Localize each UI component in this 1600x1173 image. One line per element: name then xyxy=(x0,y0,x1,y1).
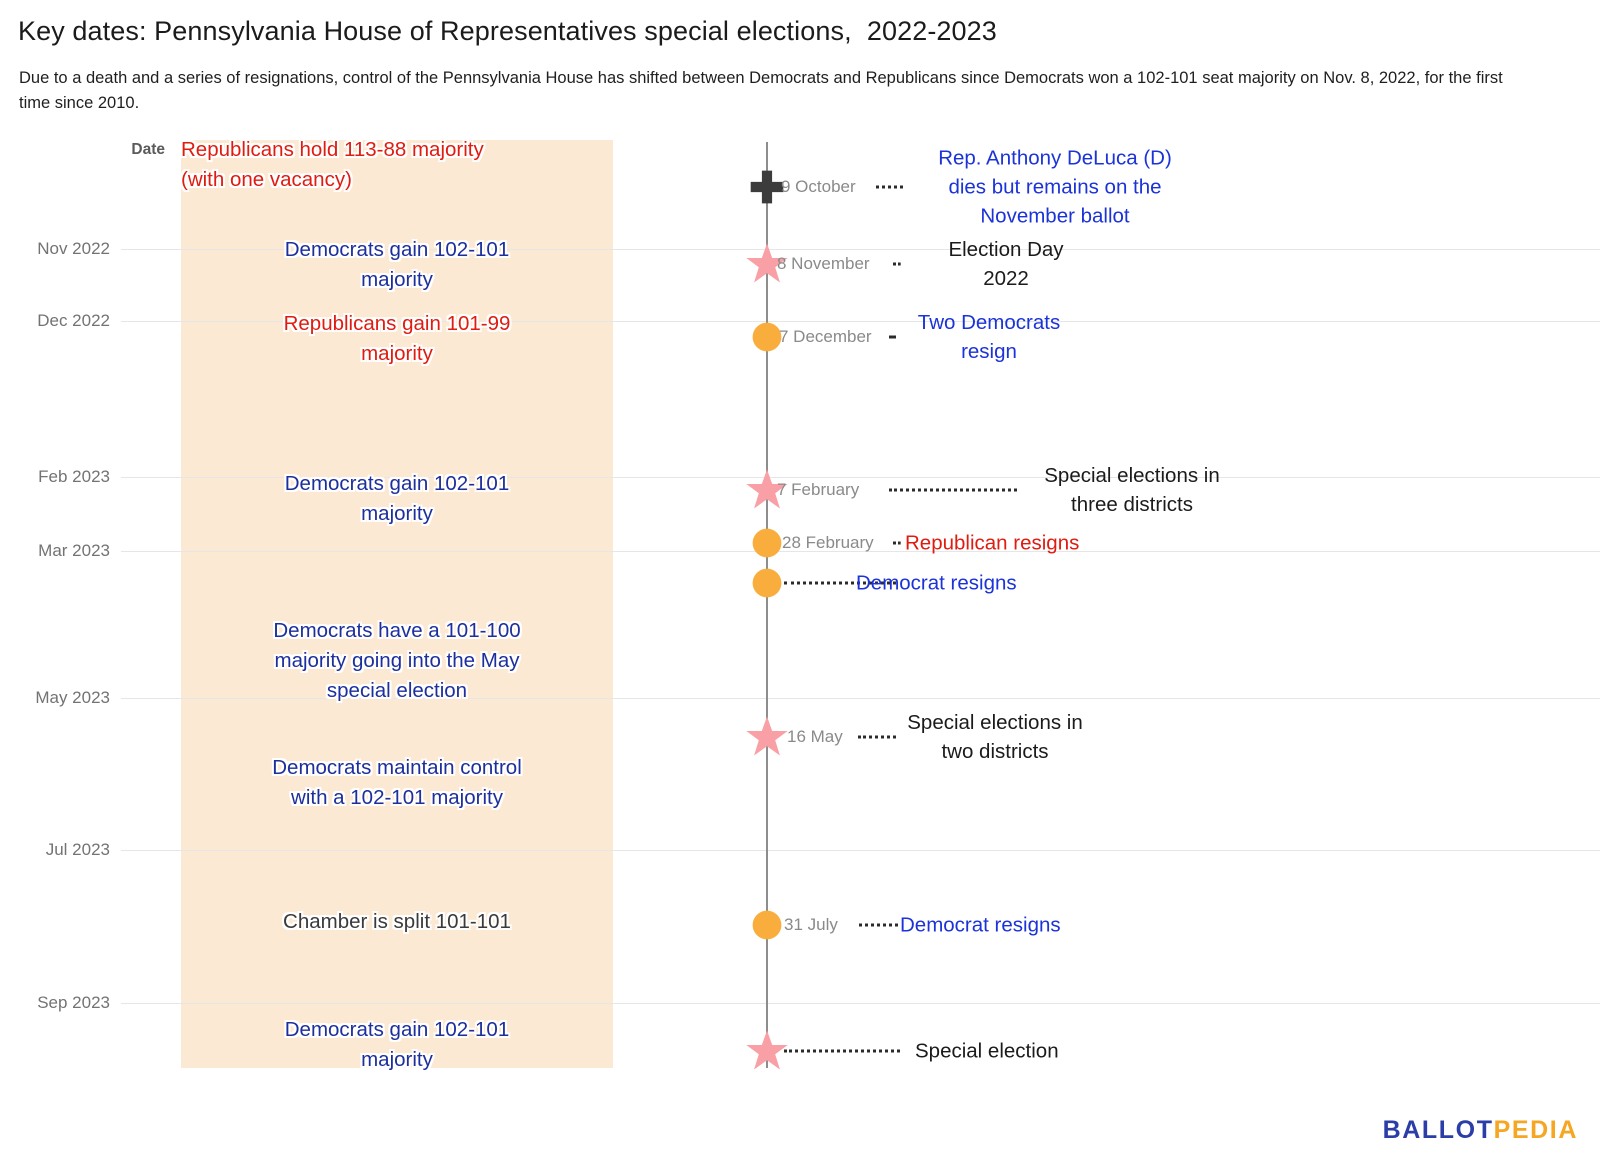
leader-line xyxy=(876,186,903,189)
leader-line xyxy=(784,1050,900,1053)
event-date-label: 28 February xyxy=(782,533,874,553)
status-note: Democrats maintain control with a 102-10… xyxy=(181,753,613,813)
event-annotation: Republican resigns xyxy=(905,529,1105,558)
event-annotation: Democrat resigns xyxy=(900,911,1092,940)
event-date-label: 7 February xyxy=(777,480,859,500)
leader-line xyxy=(893,263,901,266)
event-annotation: Special election xyxy=(915,1037,1105,1066)
page-subtitle: Due to a death and a series of resignati… xyxy=(19,66,1519,116)
ballotpedia-logo: BALLOTPEDIA xyxy=(1383,1116,1578,1145)
event-date-label: 9 October xyxy=(781,177,856,197)
y-axis-tick-label: Mar 2023 xyxy=(0,541,110,561)
circle-marker-icon xyxy=(752,910,782,940)
event-annotation: Election Day 2022 xyxy=(908,235,1104,293)
star-marker-icon xyxy=(745,715,789,759)
date-axis-header: Date xyxy=(0,141,165,159)
cross-marker-icon xyxy=(750,170,784,204)
y-axis-tick-label: May 2023 xyxy=(0,688,110,708)
y-axis-tick-label: Sep 2023 xyxy=(0,993,110,1013)
status-note: Democrats gain 102-101 majority xyxy=(181,235,613,295)
status-note: Democrats gain 102-101 majority xyxy=(181,469,613,529)
y-axis-tick-label: Jul 2023 xyxy=(0,840,110,860)
leader-line xyxy=(889,489,1017,492)
logo-ballot-text: BALLOT xyxy=(1383,1116,1494,1144)
status-note: Chamber is split 101-101 xyxy=(181,907,613,937)
leader-line xyxy=(859,924,898,927)
status-note: Republicans gain 101-99 majority xyxy=(181,309,613,369)
event-date-label: 31 July xyxy=(784,915,838,935)
event-date-label: 8 November xyxy=(777,254,870,274)
gridline xyxy=(121,850,1600,851)
event-annotation: Democrat resigns xyxy=(856,569,1048,598)
y-axis-tick-label: Feb 2023 xyxy=(0,467,110,487)
event-annotation: Special elections in three districts xyxy=(1016,461,1248,519)
status-note: Republicans hold 113-88 majority (with o… xyxy=(181,135,613,195)
event-annotation: Special elections in two districts xyxy=(882,708,1108,766)
event-annotation: Rep. Anthony DeLuca (D) dies but remains… xyxy=(923,144,1187,231)
circle-marker-icon xyxy=(752,322,782,352)
page-title: Key dates: Pennsylvania House of Represe… xyxy=(18,16,997,47)
status-note: Democrats have a 101-100 majority going … xyxy=(181,616,613,706)
timeline-chart: Date Nov 2022Dec 2022Feb 2023Mar 2023May… xyxy=(0,120,1600,1080)
event-date-label: 7 December xyxy=(779,327,872,347)
y-axis-tick-label: Nov 2022 xyxy=(0,239,110,259)
star-marker-icon xyxy=(745,1029,789,1073)
gridline xyxy=(121,1003,1600,1004)
y-axis-tick-label: Dec 2022 xyxy=(0,311,110,331)
status-note: Democrats gain 102-101 majority xyxy=(181,1015,613,1075)
leader-line xyxy=(893,542,901,545)
logo-pedia-text: PEDIA xyxy=(1494,1116,1578,1144)
circle-marker-icon xyxy=(752,528,782,558)
event-annotation: Two Democrats resign xyxy=(894,308,1084,366)
event-date-label: 16 May xyxy=(787,727,843,747)
circle-marker-icon xyxy=(752,568,782,598)
